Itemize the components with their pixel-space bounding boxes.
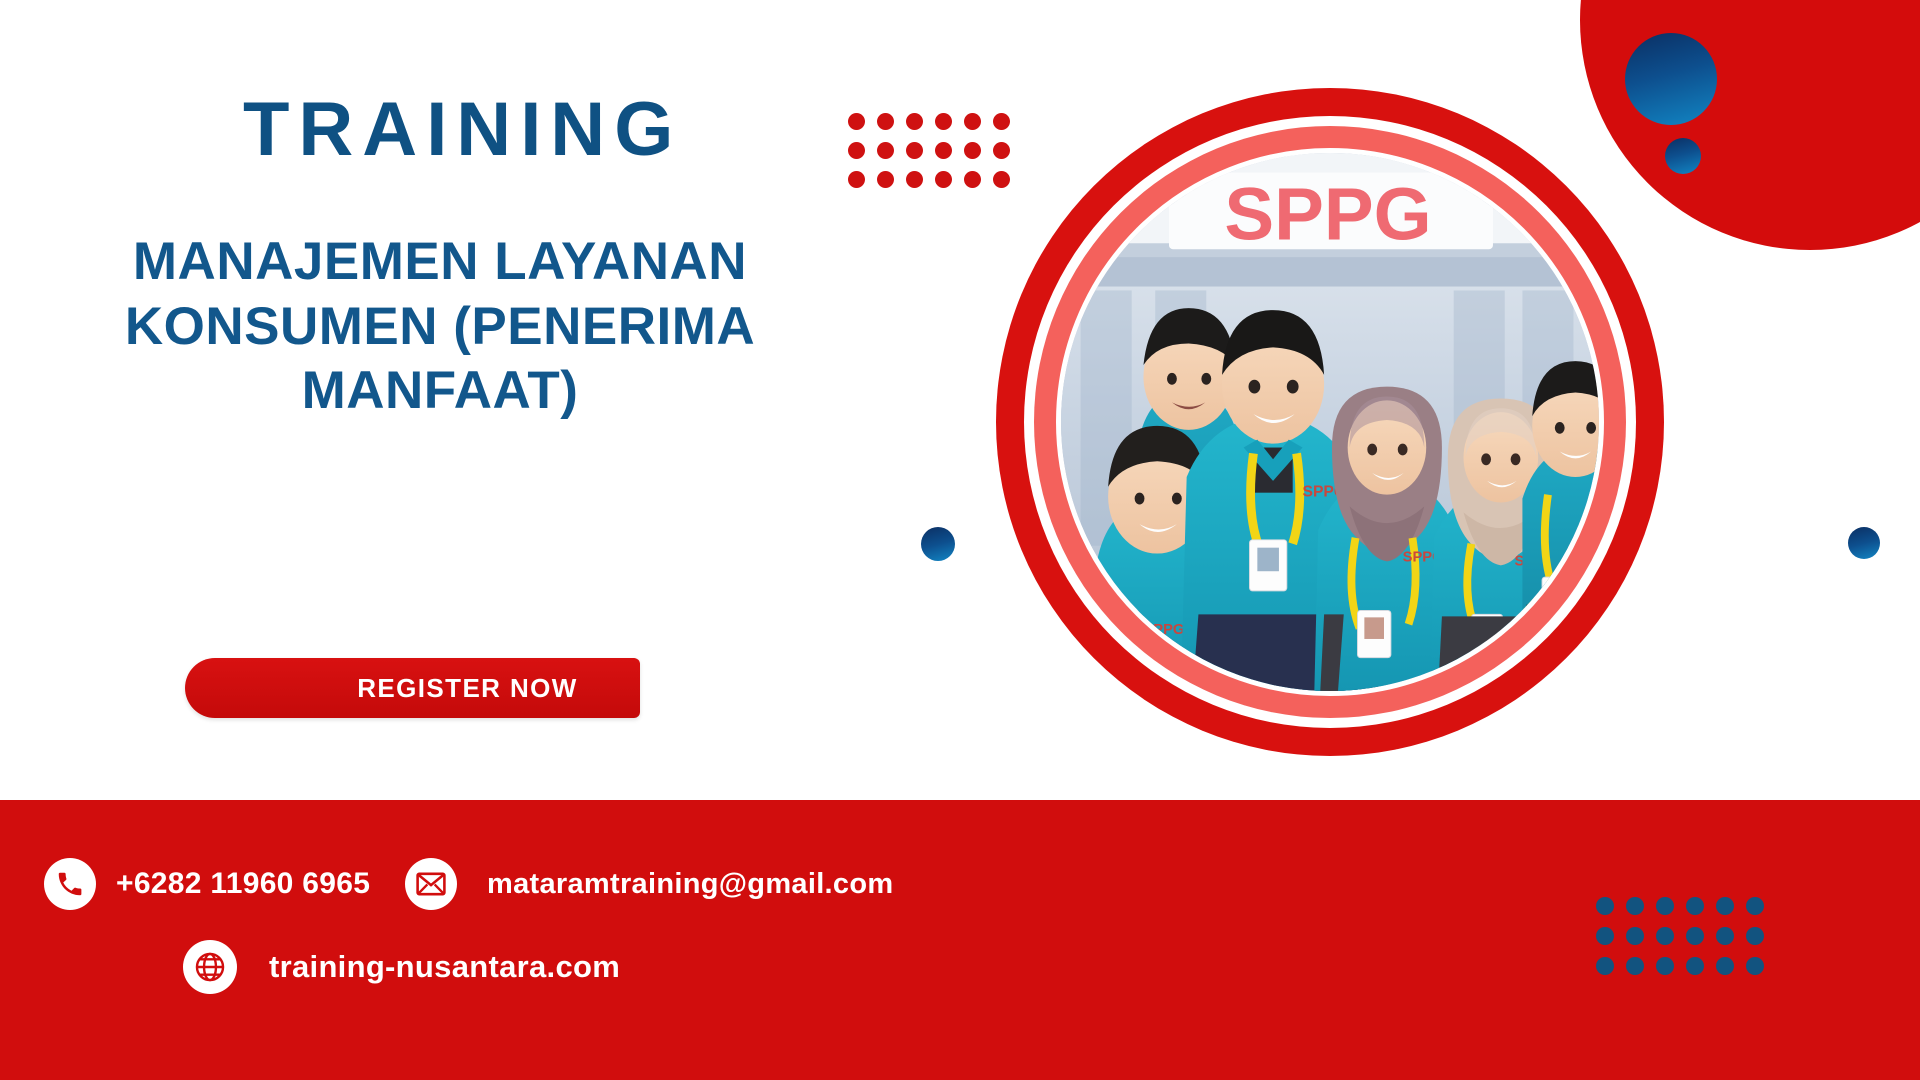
headline-block: TRAINING MANAJEMEN LAYANAN KONSUMEN (PEN… xyxy=(0,92,900,424)
globe-icon xyxy=(183,940,237,994)
dot xyxy=(1656,897,1674,915)
email-address: mataramtraining@gmail.com xyxy=(487,868,893,901)
dot xyxy=(1596,897,1614,915)
dot xyxy=(964,171,981,188)
dot xyxy=(1746,957,1764,975)
dot xyxy=(906,142,923,159)
page-subtitle: MANAJEMEN LAYANAN KONSUMEN (PENERIMA MAN… xyxy=(0,230,820,424)
blue-dot-left-icon xyxy=(921,527,955,561)
dot xyxy=(1596,927,1614,945)
photo-frame-white-gap: SPPG xyxy=(1024,116,1636,728)
photo-frame-inner-ring: SPPG xyxy=(1034,126,1626,718)
blue-circle-small-icon xyxy=(1665,138,1701,174)
website-url: training-nusantara.com xyxy=(269,949,620,985)
dot xyxy=(1746,897,1764,915)
dot xyxy=(993,142,1010,159)
sppg-sign-text: SPPG xyxy=(1224,171,1431,255)
blue-dot-right-icon xyxy=(1848,527,1880,559)
blue-dot-grid xyxy=(1596,897,1764,975)
dot xyxy=(935,171,952,188)
dot xyxy=(1716,957,1734,975)
dot xyxy=(993,113,1010,130)
dot xyxy=(1686,957,1704,975)
page-title: TRAINING xyxy=(243,92,900,168)
contact-website[interactable]: training-nusantara.com xyxy=(183,940,620,994)
dot xyxy=(935,113,952,130)
poster-canvas: TRAINING MANAJEMEN LAYANAN KONSUMEN (PEN… xyxy=(0,0,1920,1080)
dot xyxy=(964,113,981,130)
shirt-logo-text: SPPG xyxy=(1143,622,1184,638)
dot xyxy=(906,171,923,188)
photo-frame: SPPG xyxy=(996,88,1664,756)
team-photo: SPPG xyxy=(1056,148,1604,696)
dot xyxy=(1686,927,1704,945)
phone-number: +6282 11960 6965 xyxy=(116,867,370,901)
team-photo-illustration: SPPG xyxy=(1061,153,1599,691)
blue-circle-large-icon xyxy=(1625,33,1717,125)
dot xyxy=(1656,927,1674,945)
phone-icon xyxy=(44,858,96,910)
dot xyxy=(1656,957,1674,975)
register-now-button[interactable]: REGISTER NOW xyxy=(185,658,640,718)
dot xyxy=(906,113,923,130)
dot xyxy=(964,142,981,159)
dot xyxy=(1686,897,1704,915)
dot xyxy=(1626,957,1644,975)
dot xyxy=(935,142,952,159)
contact-phone[interactable]: +6282 11960 6965 xyxy=(44,858,370,910)
dot xyxy=(1596,957,1614,975)
envelope-icon xyxy=(405,858,457,910)
dot xyxy=(993,171,1010,188)
contact-email[interactable]: mataramtraining@gmail.com xyxy=(405,858,893,910)
dot xyxy=(1626,927,1644,945)
corner-red-blob xyxy=(1580,0,1920,250)
dot xyxy=(1716,927,1734,945)
dot xyxy=(1626,897,1644,915)
dot xyxy=(1716,897,1734,915)
dot xyxy=(1746,927,1764,945)
